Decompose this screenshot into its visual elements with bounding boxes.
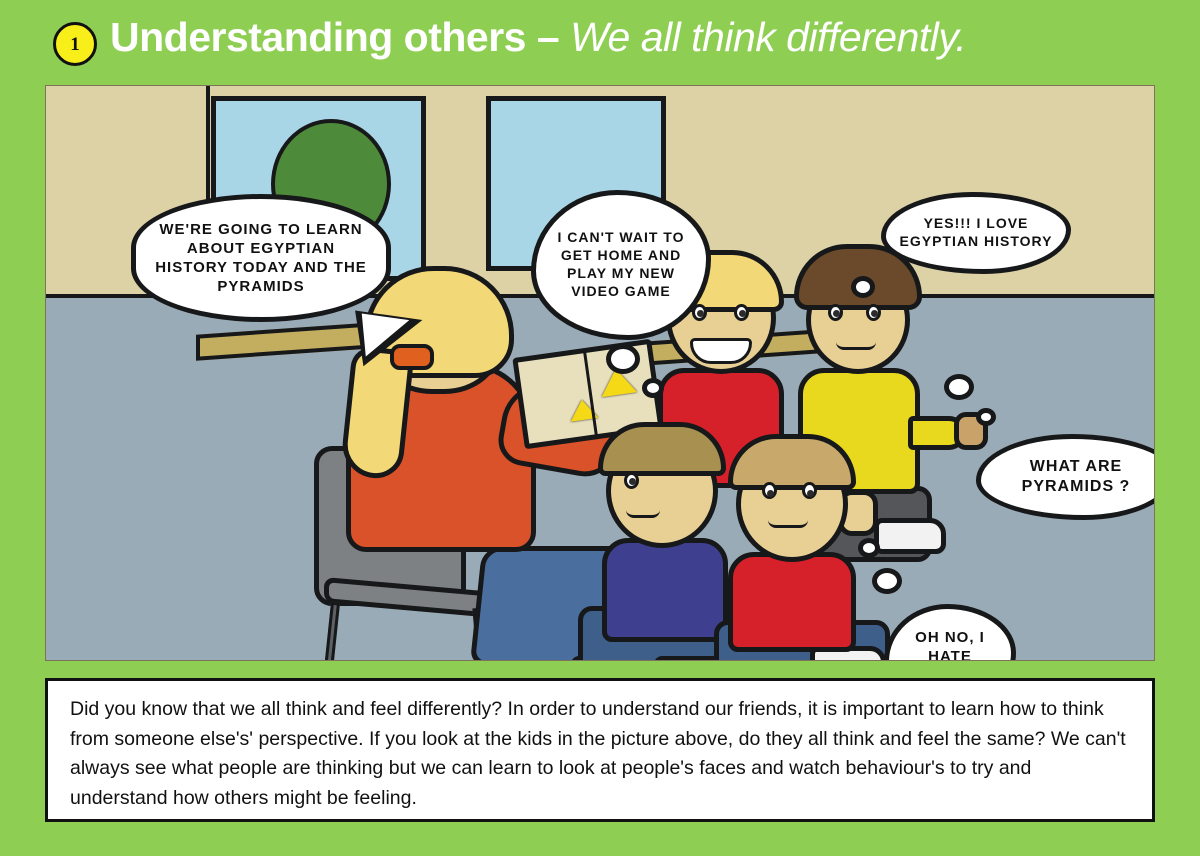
mouth: [768, 520, 808, 528]
pupil: [833, 310, 840, 317]
thought-bubble-text: YES!!! I LOVE EGYPTIAN HISTORY: [898, 215, 1054, 251]
page-title: Understanding others – We all think diff…: [110, 14, 966, 61]
smiling-mouth: [690, 338, 752, 364]
thought-puff: [606, 344, 640, 374]
page-header: 1 Understanding others – We all think di…: [0, 0, 1200, 85]
thought-bubble-text: I CAN'T WAIT TO GET HOME AND PLAY MY NEW…: [548, 229, 694, 301]
pupil: [767, 490, 774, 497]
description-paragraph: Did you know that we all think and feel …: [70, 695, 1130, 814]
speech-bubble-teacher: WE'RE GOING TO LEARN ABOUT EGYPTIAN HIST…: [131, 194, 391, 322]
thought-puff: [642, 378, 664, 398]
thought-bubble-text: WHAT ARE PYRAMIDS ?: [993, 457, 1155, 498]
mouth: [836, 342, 876, 350]
sneaker: [874, 518, 946, 554]
thought-puff: [851, 276, 875, 298]
speech-tail: [348, 311, 423, 374]
description-textbox: Did you know that we all think and feel …: [45, 678, 1155, 822]
thought-puff: [858, 538, 880, 558]
pupil: [807, 490, 814, 497]
thought-puff: [872, 568, 902, 594]
step-number-text: 1: [70, 35, 80, 54]
classroom-illustration: WE'RE GOING TO LEARN ABOUT EGYPTIAN HIST…: [45, 85, 1155, 661]
thought-bubble-love-history: YES!!! I LOVE EGYPTIAN HISTORY: [881, 192, 1071, 274]
torso: [728, 552, 856, 652]
speech-bubble-text: WE'RE GOING TO LEARN ABOUT EGYPTIAN HIST…: [150, 220, 372, 297]
hair: [598, 422, 726, 476]
thought-bubble-text: OH NO, I HATE HISTORY: [899, 628, 1001, 661]
pupil: [739, 310, 746, 317]
step-number-badge: 1: [53, 22, 97, 66]
mouth: [626, 510, 660, 518]
torso: [602, 538, 728, 642]
pupil: [697, 310, 704, 317]
pyramid-icon: [568, 398, 599, 422]
page-title-dash: –: [526, 14, 570, 60]
page-title-subtitle: We all think differently.: [570, 14, 966, 60]
pupil: [871, 310, 878, 317]
thought-puff: [944, 374, 974, 400]
pupil: [629, 478, 636, 485]
page-title-main: Understanding others: [110, 14, 526, 60]
thought-puff: [976, 408, 996, 426]
thought-bubble-video-game: I CAN'T WAIT TO GET HOME AND PLAY MY NEW…: [531, 190, 711, 340]
